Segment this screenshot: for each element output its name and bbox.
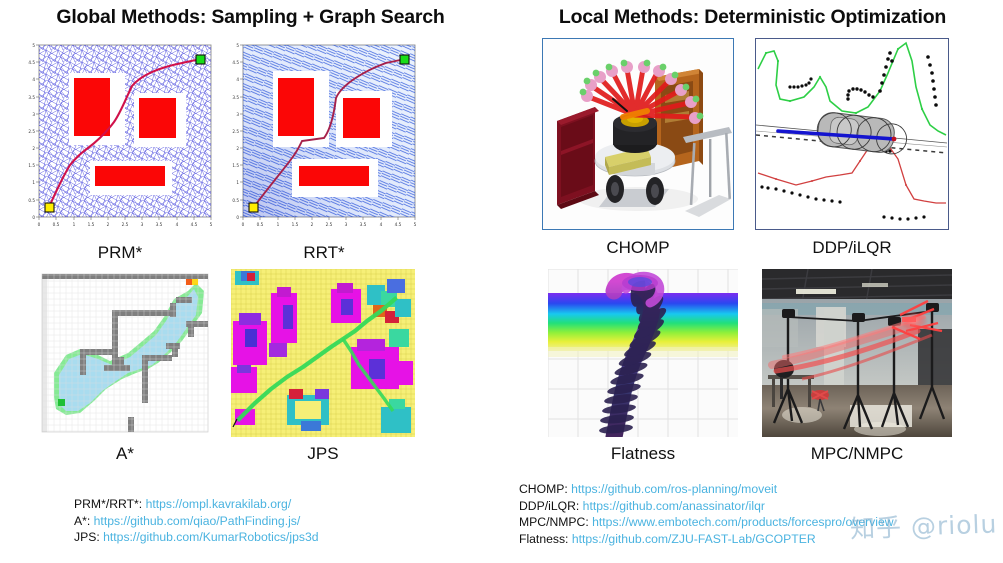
- caption-prm: PRM*: [22, 243, 218, 263]
- svg-text:4: 4: [176, 222, 179, 227]
- astar-grid-svg: [36, 269, 214, 437]
- footer-label-jps: JPS:: [74, 530, 103, 544]
- footer-row-chomp: CHOMP: https://github.com/ros-planning/m…: [519, 481, 989, 498]
- chomp-robot-torso: [613, 114, 657, 153]
- svg-text:0: 0: [32, 215, 35, 220]
- prm-plot-svg: 00.5 11.5 22.5 33.5 44.5 5: [22, 38, 218, 236]
- plot-astar: [36, 269, 214, 437]
- footer-label-astar: A*:: [74, 514, 94, 528]
- caption-ddp: DDP/iLQR: [755, 238, 949, 258]
- svg-text:3: 3: [236, 112, 239, 117]
- flatness-scene-svg: [548, 269, 738, 437]
- footer-global-links: PRM*/RRT*: https://ompl.kavrakilab.org/ …: [74, 496, 494, 546]
- figure-chomp: CHOMP: [542, 38, 734, 270]
- svg-text:0.5: 0.5: [232, 198, 239, 203]
- caption-chomp: CHOMP: [542, 238, 734, 258]
- footer-link-forcespro[interactable]: https://www.embotech.com/products/forces…: [592, 515, 893, 529]
- svg-text:5: 5: [210, 222, 213, 227]
- rrt-goal-marker: [400, 55, 409, 64]
- svg-text:1.5: 1.5: [292, 222, 299, 227]
- column-title-local: Local Methods: Deterministic Optimizatio…: [502, 6, 1003, 29]
- figure-flatness: Flatness: [548, 269, 738, 474]
- svg-text:0.5: 0.5: [257, 222, 264, 227]
- svg-text:3: 3: [141, 222, 144, 227]
- footer-link-pathfinding[interactable]: https://github.com/qiao/PathFinding.js/: [94, 514, 301, 528]
- plot-jps: [231, 269, 415, 437]
- footer-label-prm-rrt: PRM*/RRT*:: [74, 497, 146, 511]
- svg-text:3.5: 3.5: [360, 222, 367, 227]
- footer-local-links: CHOMP: https://github.com/ros-planning/m…: [519, 481, 989, 547]
- figure-prm: 00.5 11.5 22.5 33.5 44.5 5: [22, 38, 218, 270]
- svg-text:4.5: 4.5: [28, 60, 35, 65]
- figure-rrt: 00.5 11.5 22.5 33.5 44.5 5: [226, 38, 422, 270]
- figure-astar: A*: [36, 269, 214, 474]
- svg-text:1: 1: [236, 180, 239, 185]
- plot-mpc: [762, 269, 952, 437]
- footer-label-flatness: Flatness:: [519, 532, 572, 546]
- caption-mpc: MPC/NMPC: [762, 444, 952, 464]
- plot-rrt: 00.5 11.5 22.5 33.5 44.5 5: [226, 38, 422, 236]
- column-global-methods: Global Methods: Sampling + Graph Search: [0, 0, 501, 563]
- svg-text:4: 4: [236, 77, 239, 82]
- jps-voxel-svg: [231, 269, 415, 437]
- svg-text:0.5: 0.5: [28, 198, 35, 203]
- caption-flatness: Flatness: [548, 444, 738, 464]
- rrt-plot-svg: 00.5 11.5 22.5 33.5 44.5 5: [226, 38, 422, 236]
- mpc-photo-svg: [762, 269, 952, 437]
- svg-text:1: 1: [73, 222, 76, 227]
- footer-row-astar: A*: https://github.com/qiao/PathFinding.…: [74, 513, 494, 530]
- svg-text:5: 5: [414, 222, 417, 227]
- jps-obstacle-cluster: [235, 271, 259, 285]
- astar-goal-cell: [186, 279, 192, 285]
- figure-ddp: DDP/iLQR: [755, 38, 949, 270]
- svg-text:0: 0: [236, 215, 239, 220]
- svg-text:4: 4: [32, 77, 35, 82]
- rrt-start-marker: [249, 203, 258, 212]
- figure-jps: JPS: [231, 269, 415, 474]
- svg-text:3.5: 3.5: [28, 95, 35, 100]
- footer-label-mpc: MPC/NMPC:: [519, 515, 592, 529]
- astar-start-cell: [58, 399, 65, 406]
- svg-text:4.5: 4.5: [191, 222, 198, 227]
- svg-text:1: 1: [32, 180, 35, 185]
- svg-text:0: 0: [242, 222, 245, 227]
- svg-text:2.5: 2.5: [232, 129, 239, 134]
- svg-text:4.5: 4.5: [395, 222, 402, 227]
- prm-start-marker: [45, 203, 54, 212]
- svg-text:2.5: 2.5: [122, 222, 129, 227]
- caption-rrt: RRT*: [226, 243, 422, 263]
- footer-row-mpc: MPC/NMPC: https://www.embotech.com/produ…: [519, 514, 989, 531]
- footer-row-flatness: Flatness: https://github.com/ZJU-FAST-La…: [519, 531, 989, 548]
- svg-text:2: 2: [236, 146, 239, 151]
- svg-text:4.5: 4.5: [232, 60, 239, 65]
- column-title-global: Global Methods: Sampling + Graph Search: [0, 6, 501, 29]
- svg-text:1.5: 1.5: [232, 163, 239, 168]
- svg-text:2.5: 2.5: [28, 129, 35, 134]
- footer-row-jps: JPS: https://github.com/KumarRobotics/jp…: [74, 529, 494, 546]
- plot-flatness: [548, 269, 738, 437]
- plot-prm: 00.5 11.5 22.5 33.5 44.5 5: [22, 38, 218, 236]
- column-local-methods: Local Methods: Deterministic Optimizatio…: [502, 0, 1003, 563]
- figure-mpc: MPC/NMPC: [762, 269, 952, 474]
- footer-link-jps3d[interactable]: https://github.com/KumarRobotics/jps3d: [103, 530, 318, 544]
- prm-goal-marker: [196, 55, 205, 64]
- footer-link-gcopter[interactable]: https://github.com/ZJU-FAST-Lab/GCOPTER: [572, 532, 816, 546]
- caption-astar: A*: [36, 444, 214, 464]
- slide-root: Global Methods: Sampling + Graph Search: [0, 0, 1003, 563]
- plot-ddp: [755, 38, 949, 230]
- svg-text:2: 2: [32, 146, 35, 151]
- svg-text:3.5: 3.5: [232, 95, 239, 100]
- footer-link-ilqr[interactable]: https://github.com/anassinator/ilqr: [583, 499, 765, 513]
- svg-text:2: 2: [311, 222, 314, 227]
- plot-chomp: [542, 38, 734, 230]
- svg-text:1.5: 1.5: [28, 163, 35, 168]
- svg-text:1: 1: [277, 222, 280, 227]
- footer-label-chomp: CHOMP:: [519, 482, 571, 496]
- footer-row-ddp: DDP/iLQR: https://github.com/anassinator…: [519, 498, 989, 515]
- svg-text:0.5: 0.5: [53, 222, 60, 227]
- footer-link-moveit[interactable]: https://github.com/ros-planning/moveit: [571, 482, 777, 496]
- footer-label-ddp: DDP/iLQR:: [519, 499, 583, 513]
- svg-text:5: 5: [236, 43, 239, 48]
- svg-text:3: 3: [32, 112, 35, 117]
- ddp-scene-svg: [756, 39, 947, 228]
- chomp-scene-svg: [543, 39, 732, 228]
- svg-text:0: 0: [38, 222, 41, 227]
- svg-text:3: 3: [345, 222, 348, 227]
- footer-link-ompl[interactable]: https://ompl.kavrakilab.org/: [146, 497, 292, 511]
- svg-text:3.5: 3.5: [156, 222, 163, 227]
- svg-text:2: 2: [107, 222, 110, 227]
- caption-jps: JPS: [231, 444, 415, 464]
- svg-text:5: 5: [32, 43, 35, 48]
- footer-row-prm-rrt: PRM*/RRT*: https://ompl.kavrakilab.org/: [74, 496, 494, 513]
- chomp-bookshelf-left: [557, 107, 599, 209]
- svg-text:1.5: 1.5: [88, 222, 95, 227]
- svg-text:2.5: 2.5: [326, 222, 333, 227]
- svg-text:4: 4: [380, 222, 383, 227]
